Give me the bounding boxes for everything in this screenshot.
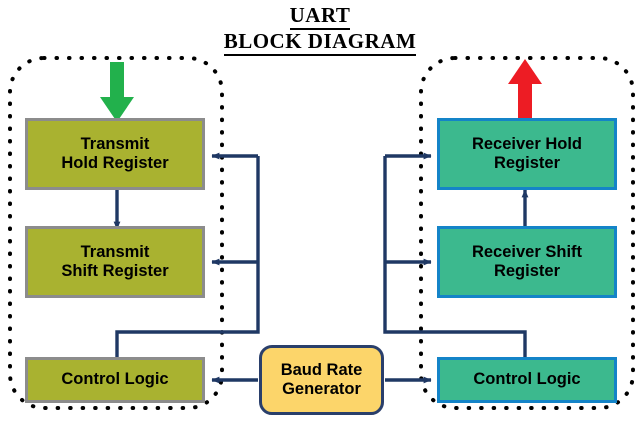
transmit-hold-register-line1: Transmit <box>81 135 150 153</box>
receiver-shift-register[interactable]: Receiver Shift Register <box>437 226 617 298</box>
receiver-shift-register-label: Receiver Shift Register <box>472 243 582 282</box>
baud-rate-generator-line1: Baud Rate <box>281 361 363 379</box>
transmit-hold-register-line2: Hold Register <box>61 154 168 172</box>
baud-rate-generator[interactable]: Baud Rate Generator <box>259 345 384 415</box>
data-input-arrow <box>100 62 134 122</box>
uart-block-diagram: UART BLOCK DIAGRAM <box>0 0 640 437</box>
receiver-control-logic[interactable]: Control Logic <box>437 357 617 403</box>
transmit-shift-register[interactable]: Transmit Shift Register <box>25 226 205 298</box>
receiver-hold-register-label: Receiver Hold Register <box>472 135 582 174</box>
transmitter-control-logic[interactable]: Control Logic <box>25 357 205 403</box>
data-output-arrow <box>508 59 542 122</box>
baud-rate-generator-label: Baud Rate Generator <box>281 361 363 400</box>
transmit-hold-register[interactable]: Transmit Hold Register <box>25 118 205 190</box>
receiver-hold-register[interactable]: Receiver Hold Register <box>437 118 617 190</box>
transmit-hold-register-label: Transmit Hold Register <box>61 135 168 174</box>
baud-rate-generator-line2: Generator <box>282 380 361 398</box>
transmit-shift-register-line1: Transmit <box>81 243 150 261</box>
transmitter-control-logic-label: Control Logic <box>61 370 168 389</box>
receiver-shift-register-line2: Register <box>494 262 560 280</box>
receiver-control-logic-label: Control Logic <box>473 370 580 389</box>
receiver-hold-register-line2: Register <box>494 154 560 172</box>
receiver-hold-register-line1: Receiver Hold <box>472 135 582 153</box>
receiver-shift-register-line1: Receiver Shift <box>472 243 582 261</box>
transmit-shift-register-label: Transmit Shift Register <box>61 243 168 282</box>
transmit-shift-register-line2: Shift Register <box>61 262 168 280</box>
